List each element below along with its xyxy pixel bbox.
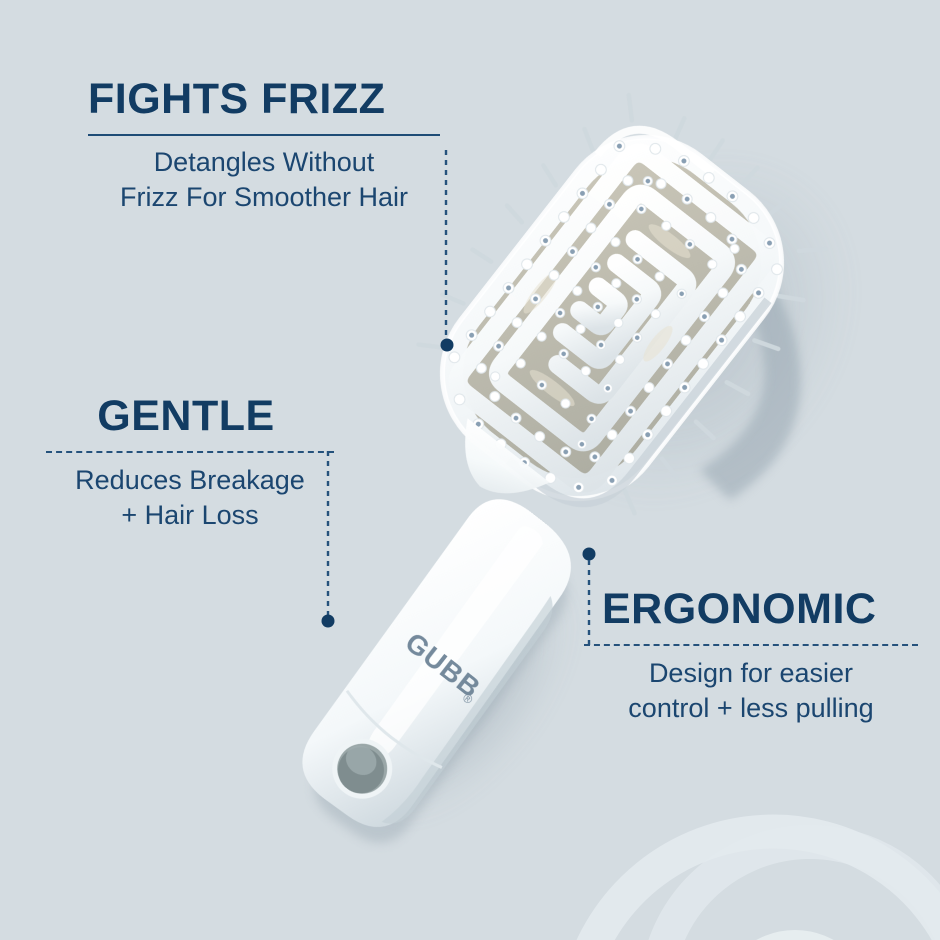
callout-subtitle-fights-frizz: Detangles Without Frizz For Smoother Hai…	[88, 145, 440, 214]
callout-fights-frizz: FIGHTS FRIZZ Detangles Without Frizz For…	[88, 78, 440, 214]
callout-rule-fights-frizz	[88, 134, 440, 136]
callout-rule-ergonomic	[584, 644, 918, 646]
infographic-canvas: GUBB ®	[0, 0, 940, 940]
brand-mark: GUBB	[400, 626, 487, 704]
callout-subtitle-gentle: Reduces Breakage + Hair Loss	[46, 463, 334, 532]
leader-dot-fights-frizz	[441, 339, 454, 352]
leader-dot-gentle	[322, 615, 335, 628]
callout-subtitle-ergonomic: Design for easier control + less pulling	[584, 656, 918, 725]
callout-title-fights-frizz: FIGHTS FRIZZ	[88, 78, 440, 121]
brand-registered-symbol: ®	[460, 691, 476, 708]
leader-dot-ergonomic	[583, 548, 596, 561]
bristle-field	[422, 115, 803, 520]
callout-rule-gentle	[46, 451, 334, 453]
callout-title-ergonomic: ERGONOMIC	[602, 588, 918, 631]
callout-ergonomic: ERGONOMIC Design for easier control + le…	[602, 588, 918, 725]
callout-title-gentle: GENTLE	[88, 395, 284, 438]
callout-gentle: GENTLE Reduces Breakage + Hair Loss	[88, 395, 334, 532]
